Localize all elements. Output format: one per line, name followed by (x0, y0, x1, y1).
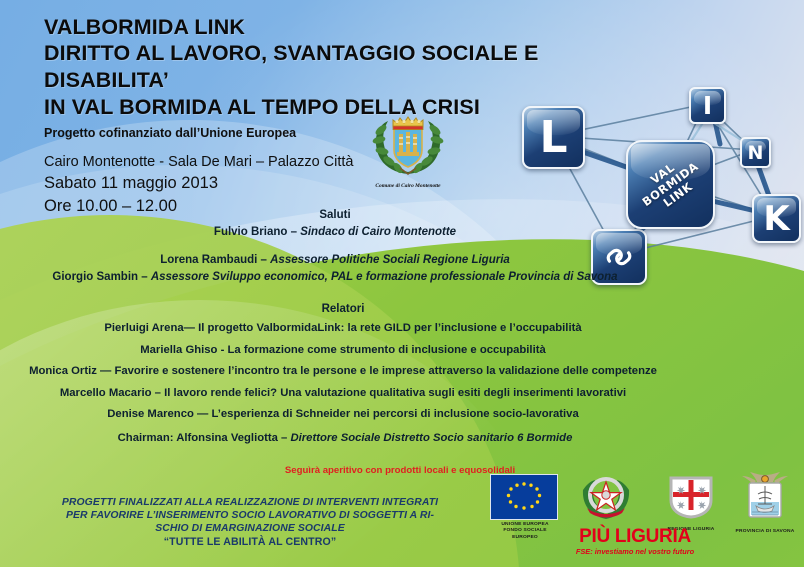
footer-project-description: PROGETTI FINALIZZATI ALLA REALIZZAZIONE … (20, 496, 480, 549)
authority-role-0: Assessore Politiche Sociali Regione Ligu… (270, 254, 510, 266)
authority-line-0: Lorena Rambaudi – Assessore Politiche So… (0, 252, 670, 269)
chairman-role: Direttore Sociale Distretto Socio sanita… (290, 432, 572, 444)
page-title-line-3: IN VAL BORMIDA AL TEMPO DELLA CRISI (44, 94, 564, 121)
greeting-name-0: Fulvio Briano – (214, 226, 300, 238)
footer-motto: “TUTTE LE ABILITÀ AL CENTRO” (20, 536, 480, 549)
chairman-line: Chairman: Alfonsina Vegliotta – Direttor… (0, 432, 690, 444)
speaker-line-4: Denise Marenco — L’esperienza di Schneid… (0, 404, 686, 426)
speakers-block: Relatori Pierluigi Arena— Il progetto Va… (0, 300, 686, 426)
page-title-line-1: VALBORMIDA LINK (44, 14, 564, 40)
network-node-i-label: I (703, 91, 712, 120)
speakers-heading: Relatori (0, 300, 686, 318)
greeting-role-0: Sindaco di Cairo Montenotte (300, 226, 456, 238)
sponsor-logos: UNIONE EUROPEA FONDO SOCIALE EUROPEO (488, 472, 804, 567)
authority-line-1: Giorgio Sambin – Assessore Sviluppo econ… (0, 269, 670, 286)
network-node-k: K (752, 194, 801, 243)
network-node-l-label: L (539, 112, 567, 163)
speaker-line-1: Mariella Ghiso - La formazione come stru… (0, 340, 686, 362)
chairman-name: Chairman: Alfonsina Vegliotta – (118, 432, 291, 444)
greetings-block: Saluti Fulvio Briano – Sindaco di Cairo … (0, 206, 670, 286)
logo-regione-liguria: REGIONE LIGURIA (661, 474, 721, 533)
piu-liguria-wordmark: PIÙ LIGURIA FSE: investiamo nel vostro f… (560, 527, 710, 556)
title-block: VALBORMIDA LINK DIRITTO AL LAVORO, SVANT… (44, 14, 564, 218)
subtitle-cofinanziato: Progetto cofinanziato dall’Unione Europe… (44, 125, 564, 141)
regione-liguria-shield-icon (665, 474, 717, 520)
italian-republic-emblem-icon (578, 472, 634, 524)
logo-repubblica-italiana (576, 472, 636, 531)
authority-name-0: Lorena Rambaudi – (160, 254, 270, 266)
authority-role-1: Assessore Sviluppo economico, PAL e form… (151, 271, 618, 283)
logo-eu-caption-2: FONDO SOCIALE EUROPEO (490, 528, 560, 541)
greeting-line-0: Fulvio Briano – Sindaco di Cairo Monteno… (0, 224, 670, 241)
crest-caption: Comune di Cairo Montenotte (360, 183, 456, 189)
footer-line-2: SCHIO DI EMARGINAZIONE SOCIALE (20, 522, 480, 535)
logo-eu: UNIONE EUROPEA FONDO SOCIALE EUROPEO (490, 474, 560, 541)
network-node-i: I (689, 87, 726, 124)
comune-crest: Comune di Cairo Montenotte (360, 112, 456, 190)
footer-line-0: PROGETTI FINALIZZATI ALLA REALIZZAZIONE … (20, 496, 480, 509)
eu-stars-icon (491, 475, 557, 519)
crest-icon (360, 112, 456, 178)
greetings-heading: Saluti (0, 206, 670, 224)
poster-canvas: VALBORMIDA LINK DIRITTO AL LAVORO, SVANT… (0, 0, 804, 567)
logo-provincia-savona-caption: PROVINCIA DI SAVONA (731, 529, 799, 535)
eu-flag-icon (490, 474, 558, 520)
speaker-line-0: Pierluigi Arena— Il progetto ValbormidaL… (0, 318, 686, 340)
provincia-savona-crest-icon (736, 472, 794, 522)
piu-liguria-title: PIÙ LIGURIA (560, 527, 710, 547)
piu-liguria-subtitle: FSE: investiamo nel vostro futuro (560, 547, 710, 556)
network-node-n: N (740, 137, 771, 168)
logo-provincia-savona: PROVINCIA DI SAVONA (731, 472, 799, 535)
venue-text: Cairo Montenotte - Sala De Mari – Palazz… (44, 152, 564, 172)
authority-name-1: Giorgio Sambin – (52, 271, 150, 283)
network-node-l: L (522, 106, 585, 169)
network-node-n-label: N (748, 142, 764, 164)
event-date: Sabato 11 maggio 2013 (44, 172, 564, 195)
page-title-line-2: DIRITTO AL LAVORO, SVANTAGGIO SOCIALE E … (44, 40, 564, 94)
speaker-line-2: Monica Ortiz — Favorire e sostenere l’in… (0, 361, 686, 383)
network-node-k-label: K (763, 199, 789, 239)
speaker-line-3: Marcello Macario – Il lavoro rende felic… (0, 383, 686, 405)
footer-line-1: PER FAVORIRE L’INSERIMENTO SOCIO LAVORAT… (20, 509, 480, 522)
